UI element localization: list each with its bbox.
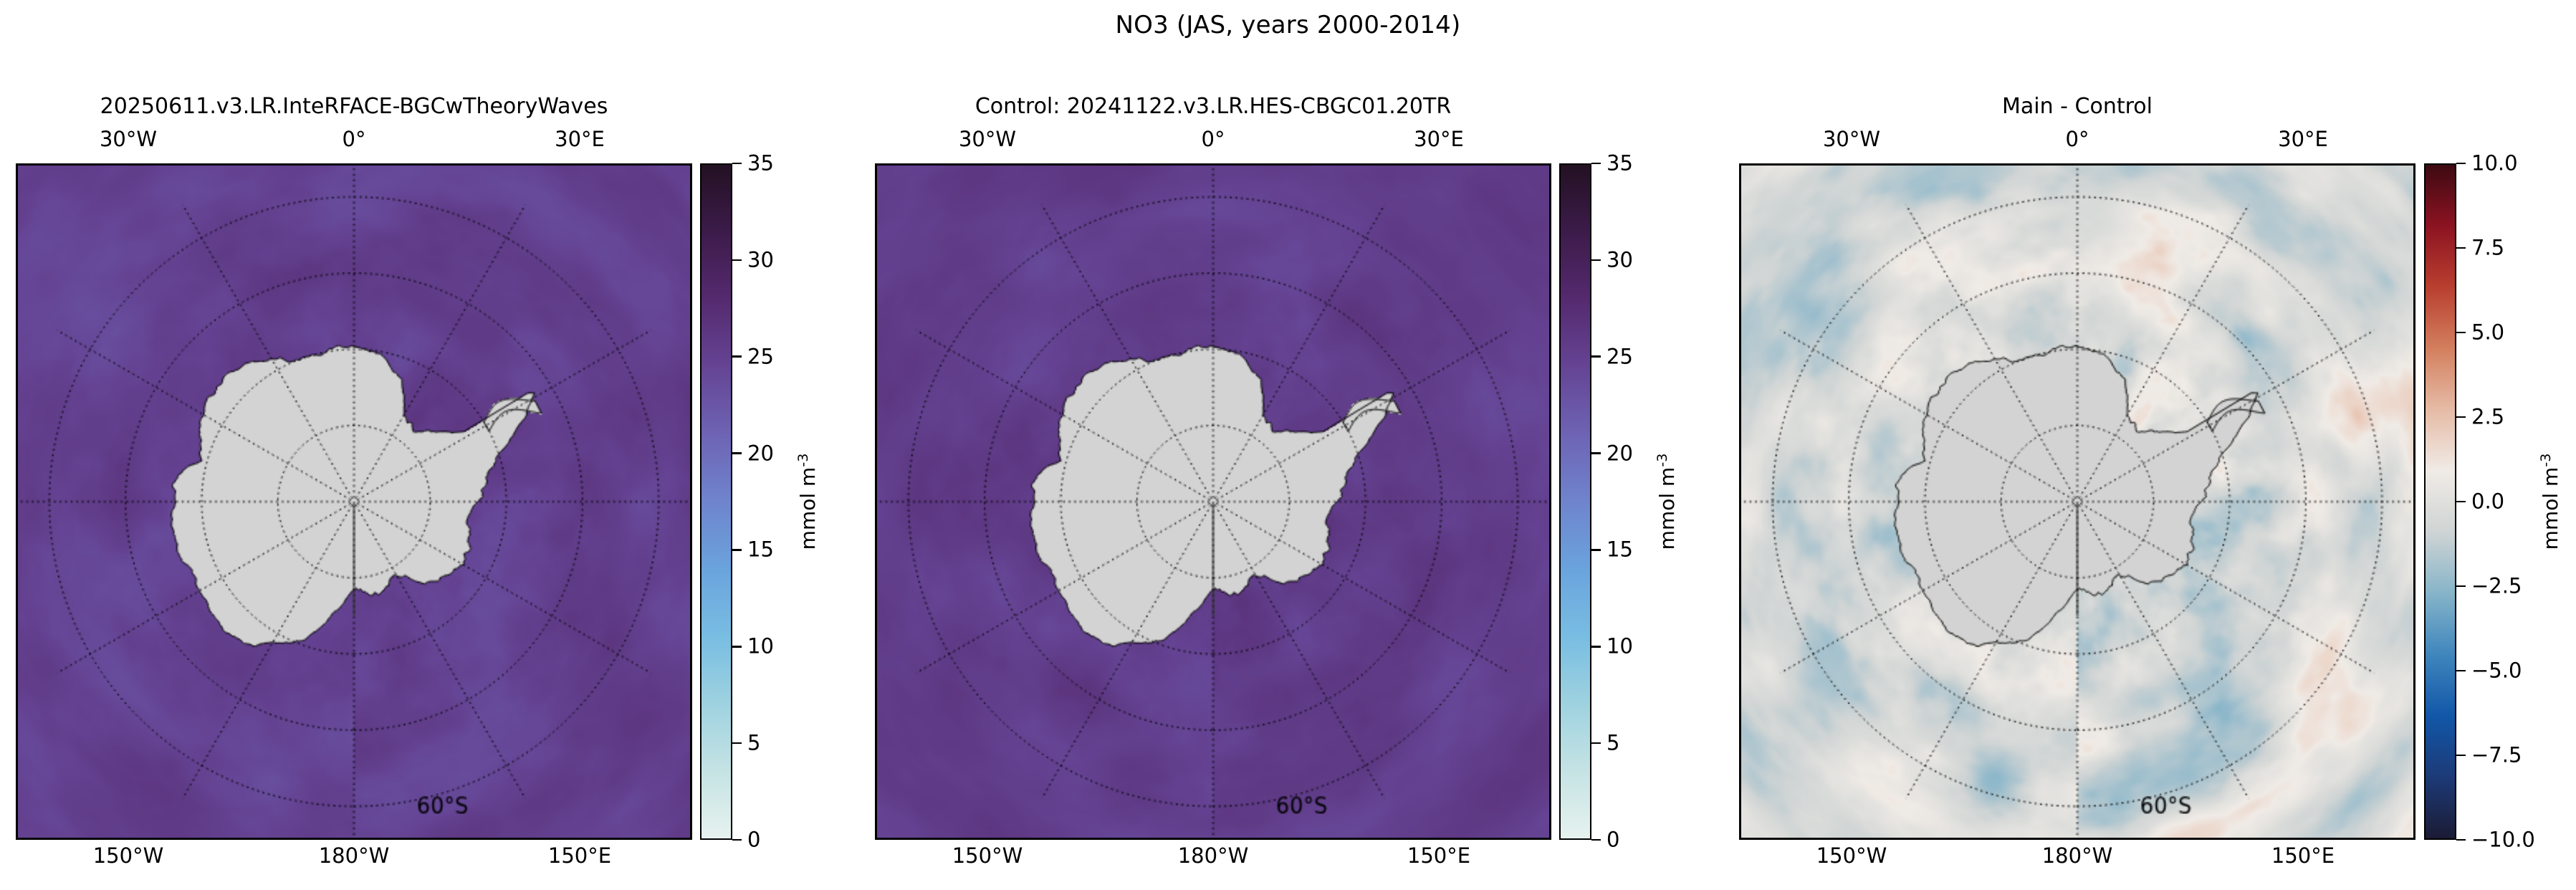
colorbar-tick-label: 25 — [747, 346, 774, 367]
lon-label-top-0: 30°W — [959, 129, 1016, 150]
colorbar-gradient-control — [1559, 163, 1591, 840]
lon-label-bottom-2: 150°E — [548, 846, 611, 866]
lon-label-top-1: 0° — [343, 129, 366, 150]
lon-label-bottom-0: 150°W — [952, 846, 1023, 866]
lon-label-bottom-2: 150°E — [1407, 846, 1470, 866]
map-axes-main[interactable] — [16, 163, 692, 840]
colorbar-tick — [2456, 839, 2466, 841]
colorbar-tick — [2456, 163, 2466, 165]
colorbar-tick-label: −7.5 — [2471, 745, 2522, 766]
colorbar-tick-label: 25 — [1607, 346, 1633, 367]
colorbar-tick — [732, 163, 742, 165]
colorbar-unit-control: mmol m-3 — [1655, 454, 1679, 550]
colorbar-tick — [732, 355, 742, 358]
colorbar-tick — [2456, 755, 2466, 757]
colorbar-tick — [1591, 646, 1601, 648]
colorbar-tick — [732, 452, 742, 454]
lon-label-top-0: 30°W — [1823, 129, 1880, 150]
map-panel-difference: Main - Control 30°W 0° 30°E 150°W 180°W … — [1739, 163, 2415, 840]
colorbar-tick-label: 30 — [747, 249, 774, 270]
panel-title-control: Control: 20241122.v3.LR.HES-CBGC01.20TR — [875, 96, 1551, 118]
colorbar-tick-label: 35 — [747, 153, 774, 174]
colorbar-tick-label: 20 — [1607, 443, 1633, 464]
colorbar-tick-label: 7.5 — [2471, 238, 2504, 259]
colorbar-tick-label: 10.0 — [2471, 153, 2518, 174]
lon-label-top-2: 30°E — [555, 129, 605, 150]
colorbar-tick — [1591, 259, 1601, 262]
lon-label-bottom-2: 150°E — [2271, 846, 2335, 866]
lon-label-bottom-1: 180°W — [319, 846, 390, 866]
colorbar-tick-label: −10.0 — [2471, 830, 2535, 851]
panel-title-difference: Main - Control — [1739, 96, 2415, 118]
colorbar-tick — [2456, 416, 2466, 418]
map-axes-difference[interactable] — [1739, 163, 2415, 840]
colorbar-tick — [1591, 163, 1601, 165]
colorbar-tick-label: 0 — [1607, 830, 1619, 851]
colorbar-difference[interactable]: mmol m-3 −10.0−7.5−5.0−2.50.02.55.07.510… — [2424, 163, 2456, 840]
lon-label-top-1: 0° — [2066, 129, 2089, 150]
colorbar-tick — [2456, 247, 2466, 249]
colorbar-tick-label: 10 — [747, 636, 774, 657]
colorbar-tick-label: −5.0 — [2471, 661, 2522, 681]
colorbar-tick — [1591, 839, 1601, 841]
colorbar-tick — [732, 259, 742, 262]
colorbar-tick-label: 15 — [747, 540, 774, 560]
colorbar-tick-label: 0 — [747, 830, 760, 851]
colorbar-control[interactable]: mmol m-3 05101520253035 — [1559, 163, 1591, 840]
colorbar-tick — [2456, 332, 2466, 334]
colorbar-tick-label: 0.0 — [2471, 492, 2504, 512]
map-field-main — [18, 166, 690, 838]
colorbar-unit-main: mmol m-3 — [795, 454, 820, 550]
colorbar-gradient-difference — [2424, 163, 2456, 840]
colorbar-tick — [1591, 452, 1601, 454]
map-panel-control: Control: 20241122.v3.LR.HES-CBGC01.20TR … — [875, 163, 1551, 840]
lon-label-bottom-0: 150°W — [1816, 846, 1887, 866]
colorbar-tick — [2456, 670, 2466, 672]
map-field-difference — [1741, 166, 2413, 838]
colorbar-tick-label: 5 — [747, 733, 760, 754]
colorbar-main[interactable]: mmol m-3 05101520253035 — [700, 163, 732, 840]
colorbar-tick-label: −2.5 — [2471, 576, 2522, 597]
colorbar-tick — [732, 549, 742, 551]
lon-label-top-2: 30°E — [2278, 129, 2328, 150]
colorbar-tick — [2456, 585, 2466, 588]
lon-label-top-1: 0° — [1202, 129, 1225, 150]
colorbar-tick-label: 10 — [1607, 636, 1633, 657]
panel-title-main: 20250611.v3.LR.InteRFACE-BGCwTheoryWaves — [16, 96, 692, 118]
colorbar-tick — [732, 742, 742, 745]
map-axes-control[interactable] — [875, 163, 1551, 840]
colorbar-tick-label: 15 — [1607, 540, 1633, 560]
colorbar-tick-label: 5 — [1607, 733, 1619, 754]
lon-label-bottom-1: 180°W — [2042, 846, 2113, 866]
map-panel-main: 20250611.v3.LR.InteRFACE-BGCwTheoryWaves… — [16, 163, 692, 840]
colorbar-tick — [1591, 549, 1601, 551]
colorbar-tick — [2456, 501, 2466, 503]
colorbar-tick — [732, 646, 742, 648]
colorbar-tick-label: 20 — [747, 443, 774, 464]
colorbar-tick-label: 2.5 — [2471, 407, 2504, 428]
colorbar-tick-label: 30 — [1607, 249, 1633, 270]
lon-label-top-0: 30°W — [100, 129, 157, 150]
colorbar-gradient-main — [700, 163, 732, 840]
map-field-control — [877, 166, 1549, 838]
colorbar-tick-label: 35 — [1607, 153, 1633, 174]
colorbar-unit-difference: mmol m-3 — [2538, 454, 2562, 550]
colorbar-tick — [732, 839, 742, 841]
lon-label-top-2: 30°E — [1414, 129, 1464, 150]
colorbar-tick — [1591, 742, 1601, 745]
colorbar-tick-label: 5.0 — [2471, 322, 2504, 343]
lon-label-bottom-1: 180°W — [1178, 846, 1249, 866]
colorbar-tick — [1591, 355, 1601, 358]
figure-title: NO3 (JAS, years 2000-2014) — [0, 13, 2576, 37]
lon-label-bottom-0: 150°W — [93, 846, 164, 866]
